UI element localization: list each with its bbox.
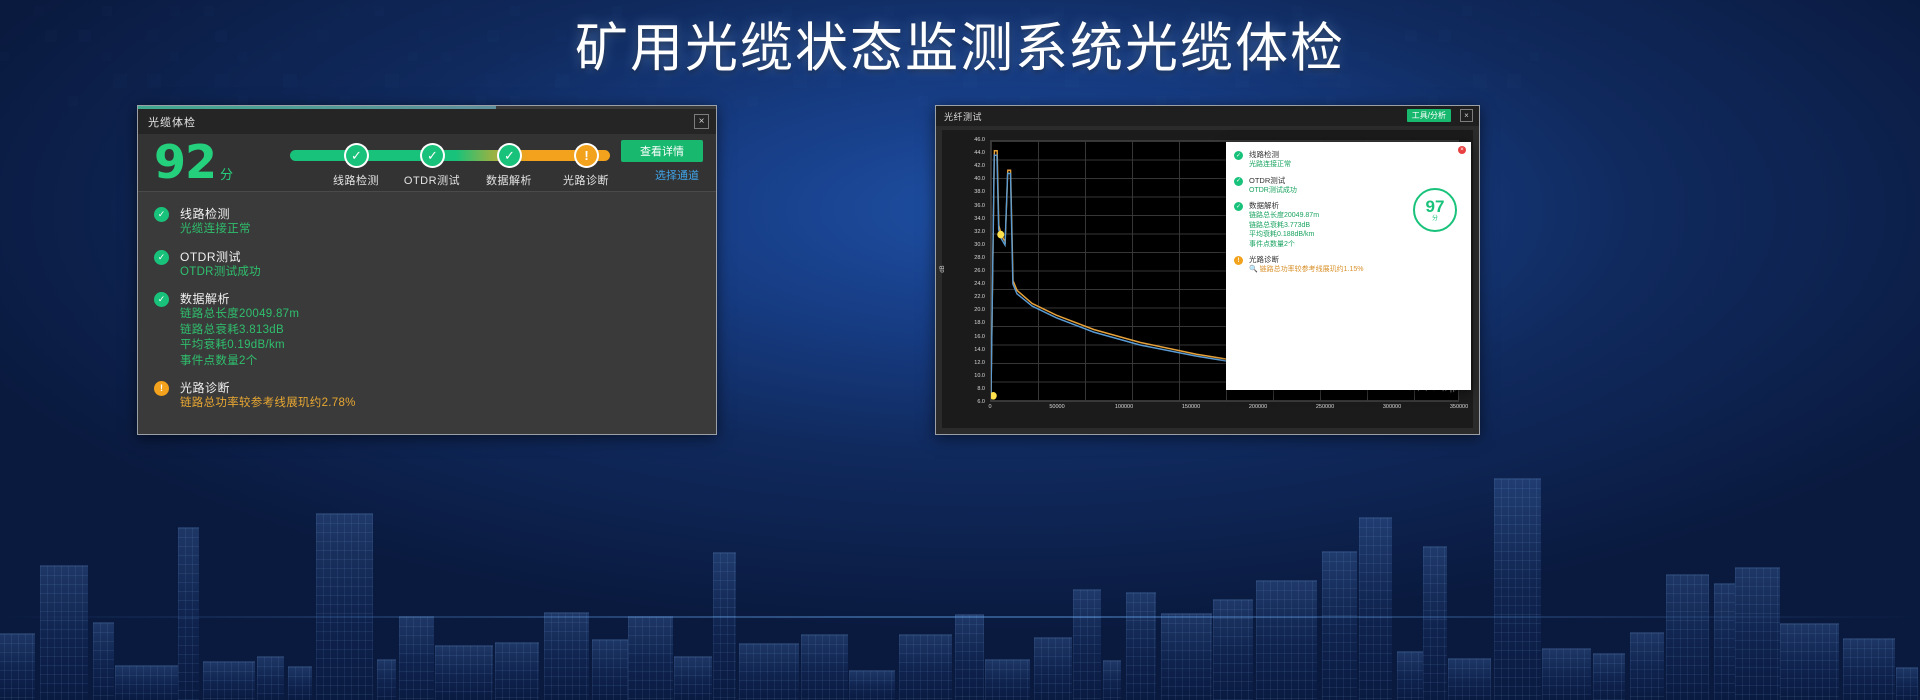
y-tick: 32.0 <box>974 229 985 235</box>
left-window-title: 光缆体检 <box>148 114 196 130</box>
y-tick: 44.0 <box>974 150 985 156</box>
checklist-item: ✓数据解析链路总长度20049.87m链路总衰耗3.813dB平均衰耗0.19d… <box>154 291 716 369</box>
report-item-detail: 平均衰耗0.188dB/km <box>1249 230 1414 240</box>
report-item-title: 线路检测 <box>1249 150 1414 160</box>
close-icon[interactable]: × <box>694 114 709 129</box>
progress-stepper: ✓线路检测✓OTDR测试✓数据解析!光路诊断 <box>290 142 610 188</box>
report-item-list: ✓线路检测光路连接正常✓OTDR测试OTDR测试成功✓数据解析链路总长度2004… <box>1234 150 1414 281</box>
report-score-ring: 97 分 <box>1413 188 1457 232</box>
right-window-titlebar: 光纤测试 工具/分析 × <box>936 106 1479 126</box>
report-item-title: 数据解析 <box>1249 201 1414 211</box>
y-tick: 10.0 <box>974 373 985 379</box>
report-item-title: 光路诊断 <box>1249 255 1414 265</box>
tools-analysis-button[interactable]: 工具/分析 <box>1407 109 1451 122</box>
stepper-dot-1[interactable]: ✓ <box>344 143 369 168</box>
report-item-detail: 链路总长度20049.87m <box>1249 211 1414 221</box>
stepper-track <box>290 150 610 161</box>
chart-x-axis: 0500001000001500002000002500003000003500… <box>990 404 1459 422</box>
y-tick: 22.0 <box>974 294 985 300</box>
checklist-item-detail: 链路总功率较参考线展玑约2.78% <box>180 396 716 412</box>
stepper-label-3: 数据解析 <box>466 172 552 188</box>
warning-icon: ! <box>154 381 169 396</box>
check-icon: ✓ <box>154 207 169 222</box>
checklist-item: ✓线路检测光缆连接正常 <box>154 206 716 238</box>
checklist-item-detail: OTDR测试成功 <box>180 265 716 281</box>
checklist-item-title: 光路诊断 <box>180 380 716 396</box>
x-tick: 50000 <box>1049 404 1064 410</box>
marker-cursor-a[interactable] <box>997 231 1004 239</box>
checklist-item: ✓OTDR测试OTDR测试成功 <box>154 249 716 281</box>
y-tick: 18.0 <box>974 320 985 326</box>
checklist-item-title: OTDR测试 <box>180 249 716 265</box>
checklist-item-detail: 光缆连接正常 <box>180 222 716 238</box>
report-item: ✓OTDR测试OTDR测试成功 <box>1234 176 1414 196</box>
close-icon[interactable]: × <box>1460 109 1473 122</box>
stepper-dot-4[interactable]: ! <box>574 143 599 168</box>
left-window-titlebar: 光缆体检 × <box>138 109 716 134</box>
y-tick: 46.0 <box>974 137 985 143</box>
x-tick: 250000 <box>1316 404 1334 410</box>
report-item-detail: 🔍 链路总功率较参考线展玑约1.15% <box>1249 265 1414 275</box>
y-tick: 8.0 <box>977 386 985 392</box>
stepper-dot-2[interactable]: ✓ <box>420 143 445 168</box>
y-tick: 42.0 <box>974 163 985 169</box>
check-icon: ✓ <box>499 145 520 166</box>
check-icon: ✓ <box>154 250 169 265</box>
otdr-test-window: 光纤测试 工具/分析 × dB 46.044.042.040.038.036.0… <box>935 105 1480 435</box>
report-item-detail: 事件点数量2个 <box>1249 240 1414 250</box>
y-tick: 12.0 <box>974 360 985 366</box>
warning-icon: ! <box>576 145 597 166</box>
view-report-button[interactable]: 查看详情 <box>621 140 703 162</box>
y-tick: 38.0 <box>974 189 985 195</box>
warning-icon: ! <box>1234 256 1243 265</box>
checklist-item-detail: 平均衰耗0.19dB/km <box>180 338 716 354</box>
y-tick: 36.0 <box>974 203 985 209</box>
y-tick: 16.0 <box>974 334 985 340</box>
stepper-label-2: OTDR测试 <box>389 172 475 188</box>
checklist-item-title: 数据解析 <box>180 291 716 307</box>
x-tick: 200000 <box>1249 404 1267 410</box>
magnifier-icon: 🔍 <box>1249 266 1258 273</box>
overall-score: 92 <box>154 138 216 186</box>
report-item-detail: 光路连接正常 <box>1249 160 1414 170</box>
stepper-dot-3[interactable]: ✓ <box>497 143 522 168</box>
close-icon[interactable]: × <box>1458 146 1466 154</box>
x-tick: 150000 <box>1182 404 1200 410</box>
y-tick: 20.0 <box>974 307 985 313</box>
summary-header: 92 分 ✓线路检测✓OTDR测试✓数据解析!光路诊断 查看详情 选择通道 <box>138 134 716 192</box>
x-tick: 100000 <box>1115 404 1133 410</box>
x-tick: 300000 <box>1383 404 1401 410</box>
y-axis-label: dB <box>940 265 946 272</box>
y-tick: 40.0 <box>974 176 985 182</box>
stepper-label-4: 光路诊断 <box>543 172 629 188</box>
marker-cursor-b[interactable] <box>991 392 997 400</box>
checklist-item-detail: 链路总衰耗3.813dB <box>180 323 716 339</box>
report-item-detail: OTDR测试成功 <box>1249 186 1414 196</box>
page-title: 矿用光缆状态监测系统光缆体检 <box>0 16 1920 82</box>
report-item: !光路诊断🔍 链路总功率较参考线展玑约1.15% <box>1234 255 1414 275</box>
overall-score-unit: 分 <box>220 164 233 183</box>
x-tick: 350000 <box>1450 404 1468 410</box>
check-icon: ✓ <box>154 292 169 307</box>
y-tick: 6.0 <box>977 399 985 405</box>
check-icon: ✓ <box>346 145 367 166</box>
check-icon: ✓ <box>1234 202 1243 211</box>
check-icon: ✓ <box>1234 177 1243 186</box>
x-tick: 0 <box>988 404 991 410</box>
check-icon: ✓ <box>422 145 443 166</box>
stepper-label-1: 线路检测 <box>313 172 399 188</box>
chart-y-axis: dB 46.044.042.040.038.036.034.032.030.02… <box>942 140 988 402</box>
y-tick: 24.0 <box>974 281 985 287</box>
checklist-item-detail: 事件点数量2个 <box>180 354 716 370</box>
report-item: ✓数据解析链路总长度20049.87m链路总衰耗3.773dB平均衰耗0.188… <box>1234 201 1414 249</box>
report-item-title: OTDR测试 <box>1249 176 1414 186</box>
checklist-item-detail: 链路总长度20049.87m <box>180 307 716 323</box>
health-report-card: × 97 分 ✓线路检测光路连接正常✓OTDR测试OTDR测试成功✓数据解析链路… <box>1226 142 1471 390</box>
y-tick: 26.0 <box>974 268 985 274</box>
right-window-title: 光纤测试 <box>944 110 982 123</box>
checklist-item-title: 线路检测 <box>180 206 716 222</box>
report-score-unit: 分 <box>1432 215 1438 223</box>
select-channel-link[interactable]: 选择通道 <box>655 167 699 183</box>
city-skyline-decoration <box>0 400 1920 700</box>
report-score-value: 97 <box>1426 198 1445 215</box>
report-item-detail: 链路总衰耗3.773dB <box>1249 221 1414 231</box>
y-tick: 34.0 <box>974 216 985 222</box>
y-tick: 14.0 <box>974 347 985 353</box>
check-icon: ✓ <box>1234 151 1243 160</box>
y-tick: 30.0 <box>974 242 985 248</box>
report-item: ✓线路检测光路连接正常 <box>1234 150 1414 170</box>
horizon-glow-line <box>0 616 1920 618</box>
checklist-item: !光路诊断链路总功率较参考线展玑约2.78% <box>154 380 716 412</box>
cable-checkup-window: 光缆体检 × 92 分 ✓线路检测✓OTDR测试✓数据解析!光路诊断 查看详情 … <box>137 105 717 435</box>
diagnostic-checklist: ✓线路检测光缆连接正常✓OTDR测试OTDR测试成功✓数据解析链路总长度2004… <box>138 198 716 434</box>
y-tick: 28.0 <box>974 255 985 261</box>
